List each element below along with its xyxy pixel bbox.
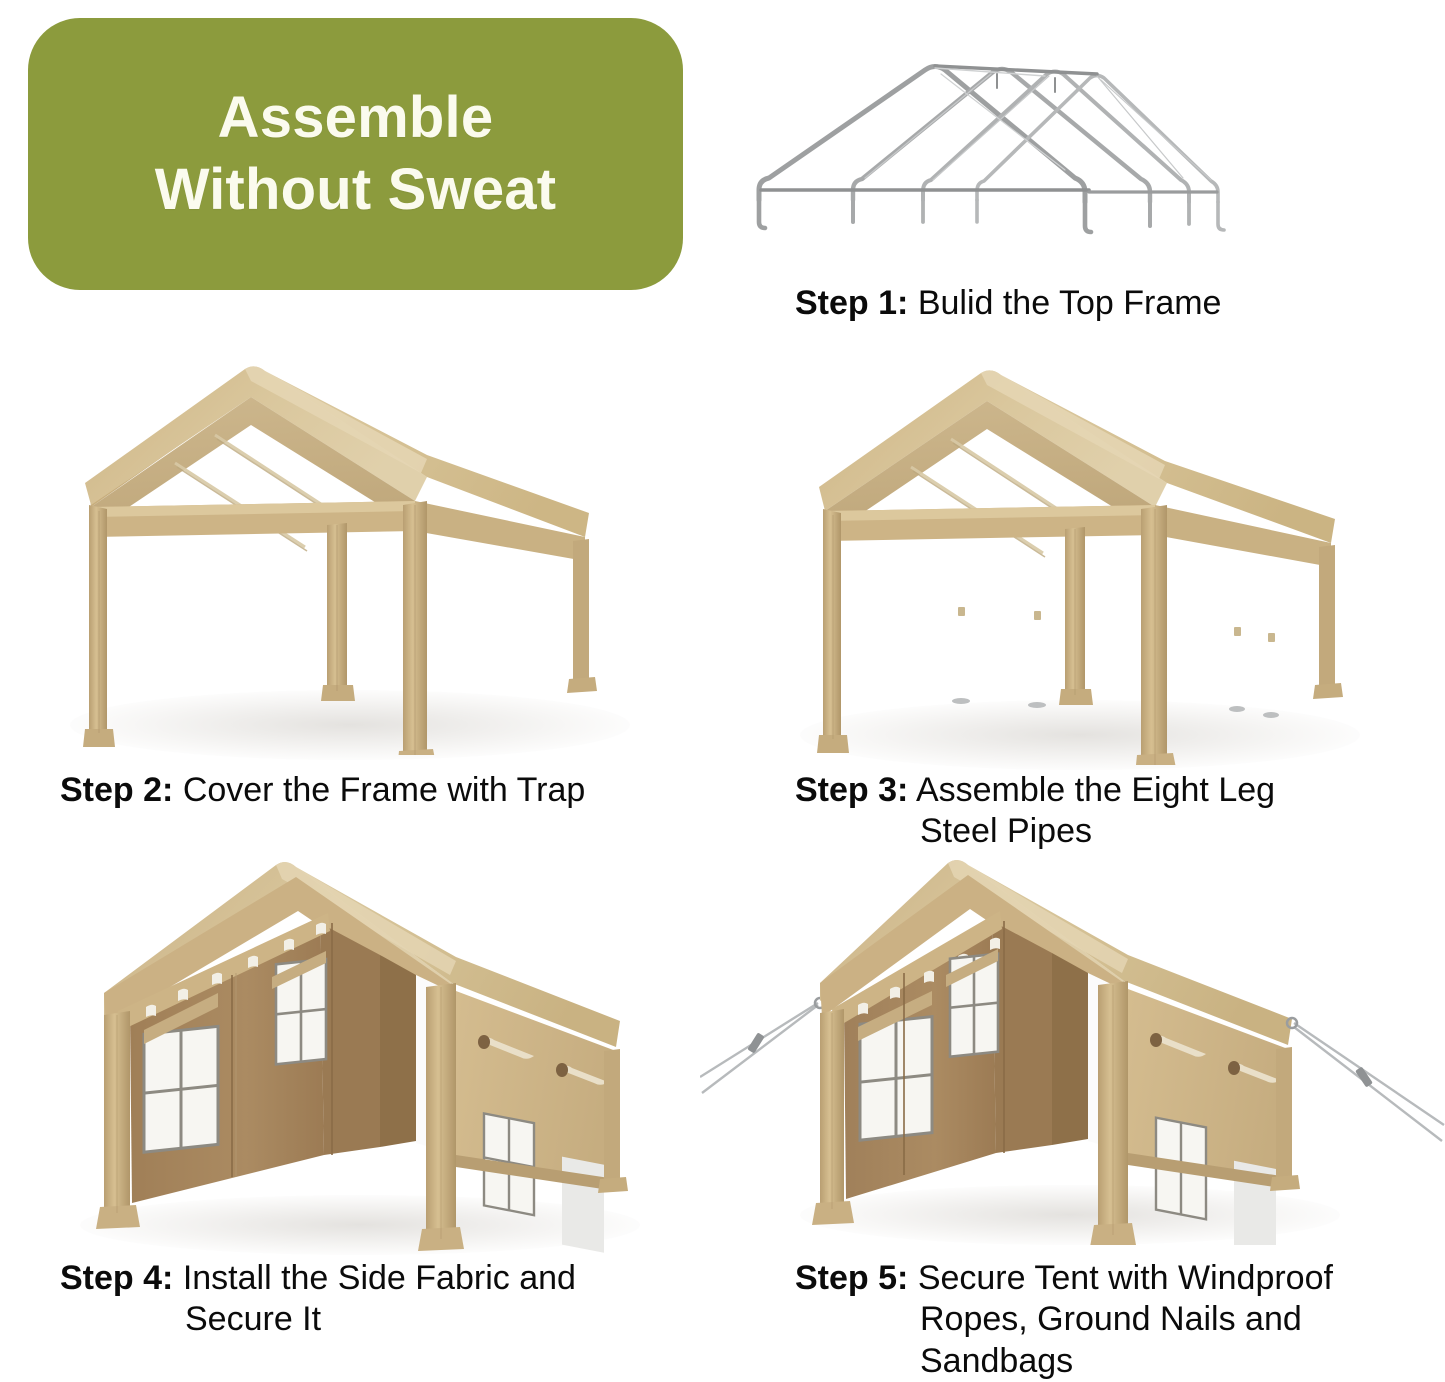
step-3-number: Step 3: xyxy=(795,771,908,809)
step-1-illustration xyxy=(745,22,1325,252)
step-2-label: Step 2: Cover the Frame with Trap xyxy=(60,770,700,811)
step-2-text: Cover the Frame with Trap xyxy=(183,771,585,809)
headline-line-2: Without Sweat xyxy=(155,157,557,222)
step-4-number: Step 4: xyxy=(60,1259,173,1297)
step-3-illustration xyxy=(775,355,1415,765)
step-1-number: Step 1: xyxy=(795,284,908,322)
step-5-text: Secure Tent with Windproof xyxy=(918,1259,1333,1297)
step-3-text: Assemble the Eight Leg xyxy=(916,771,1275,809)
tent-with-guy-ropes-drawing xyxy=(700,855,1445,1245)
step-5-illustration xyxy=(700,855,1445,1245)
step-1-label: Step 1: Bulid the Top Frame xyxy=(795,283,1355,324)
headline-line-1: Assemble xyxy=(218,85,494,150)
step-5-number: Step 5: xyxy=(795,1259,908,1297)
step-2-illustration xyxy=(55,355,665,755)
canopy-covered-frame-drawing xyxy=(55,355,665,755)
tent-with-side-fabric-drawing xyxy=(60,855,680,1255)
step-1-text: Bulid the Top Frame xyxy=(918,284,1222,322)
guy-rope xyxy=(700,1003,818,1093)
step-4-text-line-2: Secure It xyxy=(60,1299,700,1340)
step-3-label: Step 3: Assemble the Eight Leg Steel Pip… xyxy=(795,770,1395,853)
step-4-label: Step 4: Install the Side Fabric and Secu… xyxy=(60,1258,700,1341)
step-3-text-line-2: Steel Pipes xyxy=(795,811,1395,852)
step-5-text-line-2: Ropes, Ground Nails and xyxy=(795,1299,1415,1340)
headline-badge: Assemble Without Sweat xyxy=(28,18,683,290)
step-4-text: Install the Side Fabric and xyxy=(183,1259,576,1297)
step-5-label: Step 5: Secure Tent with Windproof Ropes… xyxy=(795,1258,1415,1382)
headline-text: Assemble Without Sweat xyxy=(155,82,557,226)
step-4-illustration xyxy=(60,855,680,1255)
canopy-with-leg-pipes-drawing xyxy=(775,355,1415,765)
steel-top-frame-drawing xyxy=(745,22,1325,252)
step-5-text-line-3: Sandbags xyxy=(795,1341,1415,1382)
infographic-page: Assemble Without Sweat xyxy=(0,0,1445,1382)
step-2-number: Step 2: xyxy=(60,771,173,809)
